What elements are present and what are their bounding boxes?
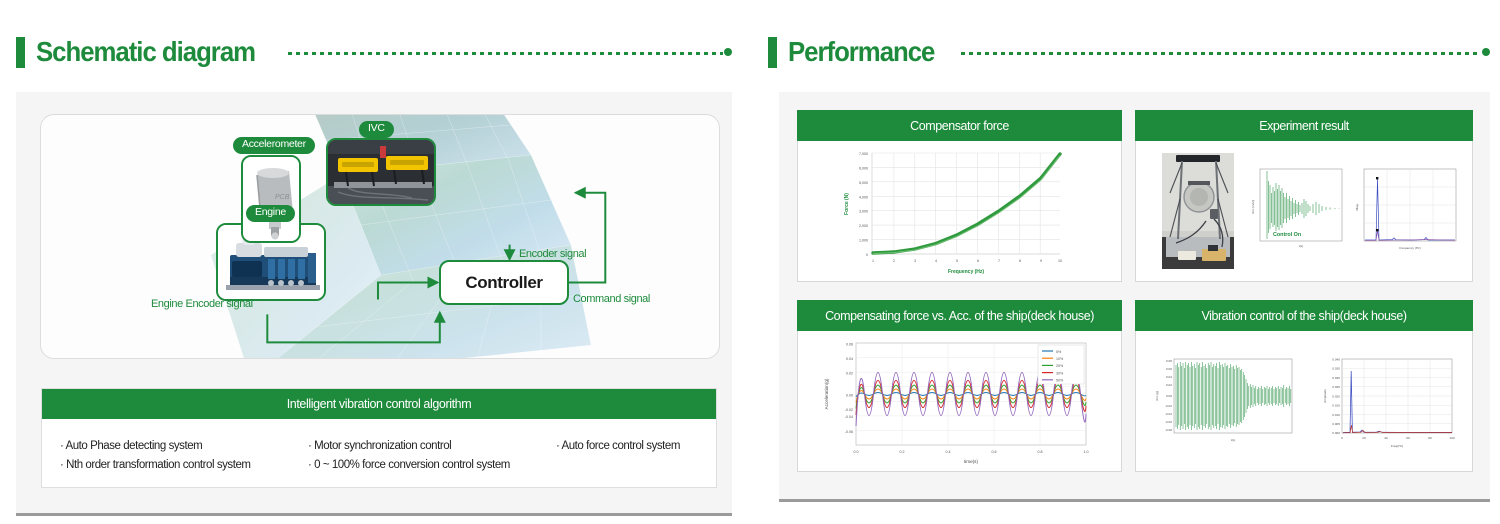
performance-panel: Compensator force [779,92,1490,502]
svg-text:0.4: 0.4 [946,450,951,454]
svg-text:0.02: 0.02 [846,372,853,376]
svg-text:3,000: 3,000 [859,210,868,214]
test-rig-photo [1162,153,1234,269]
card-chart-area: 7,000 6,000 5,000 4,000 3,000 2,000 1,00… [797,141,1122,282]
svg-text:0.06: 0.06 [846,342,853,346]
algorithm-column-3: · Auto force control system [556,437,726,475]
algorithm-items: · Auto Phase detecting system · Nth orde… [42,419,716,475]
svg-text:7,000: 7,000 [859,152,868,156]
svg-text:5,000: 5,000 [859,181,868,185]
svg-text:Freq(Hz): Freq(Hz) [1391,444,1403,448]
svg-text:Acc.(g): Acc.(g) [1155,391,1159,401]
svg-text:0.020: 0.020 [1332,395,1340,399]
svg-text:Control On: Control On [1273,232,1301,238]
header-dotted-rule [288,48,732,56]
svg-text:50%: 50% [1056,379,1064,383]
svg-text:0.0: 0.0 [854,450,859,454]
header-accent-bar [16,37,25,68]
svg-text:-0.02: -0.02 [845,408,853,412]
experiment-result-content: t(s) Acc.(m/s²) Control On [1136,141,1473,282]
svg-text:-0.02: -0.02 [1165,404,1172,408]
svg-text:0.00: 0.00 [1166,394,1172,398]
svg-text:2,000: 2,000 [859,224,868,228]
svg-text:Acceleration(g): Acceleration(g) [824,378,829,409]
algorithm-item: · Auto force control system [556,437,726,456]
experiment-fft-plot: Frequency (Hz) Mag. [1355,169,1456,250]
algorithm-column-2: · Motor synchronization control · 0 ~ 10… [308,437,556,475]
dotted-line [961,52,1481,55]
card-title: Experiment result [1135,110,1473,141]
svg-text:7: 7 [998,259,1000,263]
svg-text:1: 1 [872,259,874,263]
svg-text:Amplitude: Amplitude [1323,389,1327,403]
svg-text:0.030: 0.030 [1332,376,1340,380]
signal-label-engine-encoder: Engine Encoder signal [151,298,253,310]
svg-text:0.040: 0.040 [1332,358,1340,362]
svg-text:0: 0 [1341,436,1343,440]
svg-text:-0.06: -0.06 [1165,420,1172,424]
algorithm-box: Intelligent vibration control algorithm … [41,388,717,488]
svg-text:0.08: 0.08 [1166,359,1172,363]
node-label-engine: Engine [246,205,295,222]
page-title-schematic: Schematic diagram [36,36,255,68]
header-dotted-rule [961,48,1490,56]
svg-text:-0.04: -0.04 [845,415,853,419]
svg-text:5%: 5% [1056,350,1062,354]
card-title: Compensating force vs. Acc. of the ship(… [797,300,1122,331]
algorithm-title: Intelligent vibration control algorithm [42,389,716,419]
svg-text:0.6: 0.6 [992,450,997,454]
svg-text:6,000: 6,000 [859,166,868,170]
svg-text:0.000: 0.000 [1332,431,1340,435]
card-chart-area: 5% 10% 20% 30% 50% 0.06 0.04 0.02 0.00 -… [797,331,1122,472]
accelerometer-photo: PCB [241,155,301,243]
svg-text:0.04: 0.04 [1166,375,1172,379]
algorithm-item: · 0 ~ 100% force conversion control syst… [308,456,556,475]
svg-text:100: 100 [1449,436,1454,440]
svg-text:10%: 10% [1056,357,1064,361]
svg-text:0.035: 0.035 [1332,367,1340,371]
algorithm-column-1: · Auto Phase detecting system · Nth orde… [60,437,308,475]
chart-compensator-force: 7,000 6,000 5,000 4,000 3,000 2,000 1,00… [798,141,1122,282]
card-title: Vibration control of the ship(deck house… [1135,300,1473,331]
schematic-panel: Engine [16,92,732,516]
svg-text:0.06: 0.06 [1166,367,1172,371]
svg-text:60: 60 [1406,436,1410,440]
svg-text:PCB: PCB [275,194,290,201]
page-title-performance: Performance [788,36,934,68]
performance-card-experiment-result: Experiment result [1135,110,1473,282]
card-title: Compensator force [797,110,1122,141]
schematic-diagram-card: Engine [40,114,720,359]
svg-text:0.02: 0.02 [1166,383,1172,387]
svg-text:Acc.(m/s²): Acc.(m/s²) [1251,200,1255,214]
svg-text:20: 20 [1362,436,1366,440]
accelerometer-illustration: PCB [243,157,301,243]
svg-text:0.010: 0.010 [1332,413,1340,417]
svg-text:1,000: 1,000 [859,239,868,243]
algorithm-item: · Motor synchronization control [308,437,556,456]
svg-text:30%: 30% [1056,371,1064,375]
svg-text:80: 80 [1428,436,1432,440]
svg-text:8: 8 [1019,259,1021,263]
svg-text:0.015: 0.015 [1332,404,1340,408]
dotted-line [288,52,723,55]
svg-text:3: 3 [914,259,916,263]
svg-text:0.04: 0.04 [846,357,853,361]
performance-section-header: Performance [768,36,1490,68]
signal-label-command: Command signal [573,293,650,305]
svg-text:40: 40 [1384,436,1388,440]
node-label-ivc: IVC [359,121,394,138]
header-accent-bar [768,37,777,68]
svg-text:-0.08: -0.08 [1165,428,1172,432]
svg-text:-0.04: -0.04 [1165,412,1172,416]
node-label-accelerometer: Accelerometer [233,137,315,154]
svg-text:9: 9 [1040,259,1042,263]
svg-text:t(s): t(s) [1231,438,1235,442]
svg-text:0.2: 0.2 [900,450,905,454]
svg-text:1.0: 1.0 [1084,450,1089,454]
svg-text:-0.06: -0.06 [845,430,853,434]
algorithm-item: · Nth order transformation control syste… [60,456,308,475]
svg-text:0.8: 0.8 [1038,450,1043,454]
ivc-photo [326,138,436,206]
performance-card-compensator-force: Compensator force [797,110,1122,282]
chart-legend: 5% 10% 20% 30% 50% [1038,345,1084,384]
svg-text:Mag.: Mag. [1355,203,1359,210]
svg-text:Frequency (Hz): Frequency (Hz) [1399,246,1420,250]
schematic-section-header: Schematic diagram [16,36,732,68]
svg-text:2: 2 [893,259,895,263]
controller-box: Controller [439,260,569,305]
chart-compensating-force-vs-acc: 5% 10% 20% 30% 50% 0.06 0.04 0.02 0.00 -… [798,331,1122,472]
svg-text:Force (N): Force (N) [844,193,850,215]
card-chart-area: 0.080.06 0.040.02 0.00-0.02 -0.04-0.06 -… [1135,331,1473,472]
svg-text:20%: 20% [1056,364,1064,368]
dotted-line-end-dot [1482,48,1490,56]
ivc-actuator-illustration [328,140,436,206]
signal-label-encoder: Encoder signal [519,248,586,260]
vibration-time-plot: 0.080.06 0.040.02 0.00-0.02 -0.04-0.06 -… [1155,359,1292,442]
svg-text:t(s): t(s) [1299,244,1303,248]
performance-card-vibration-control: Vibration control of the ship(deck house… [1135,300,1473,472]
svg-text:5: 5 [956,259,958,263]
algorithm-item: · Auto Phase detecting system [60,437,308,456]
svg-text:0.00: 0.00 [846,393,853,397]
svg-text:Frequency (Hz): Frequency (Hz) [948,269,984,275]
experiment-time-plot: t(s) Acc.(m/s²) Control On [1251,169,1342,248]
svg-text:6: 6 [977,259,979,263]
svg-text:time(s): time(s) [964,459,979,464]
dotted-line-end-dot [724,48,732,56]
performance-card-compensating-force: Compensating force vs. Acc. of the ship(… [797,300,1122,472]
svg-text:4: 4 [935,259,937,263]
svg-text:0: 0 [866,253,868,257]
vibration-control-content: 0.080.06 0.040.02 0.00-0.02 -0.04-0.06 -… [1136,331,1473,472]
svg-text:0.025: 0.025 [1332,385,1340,389]
svg-text:10: 10 [1058,259,1062,263]
svg-text:0.005: 0.005 [1332,422,1340,426]
card-chart-area: t(s) Acc.(m/s²) Control On [1135,141,1473,282]
svg-text:4,000: 4,000 [859,195,868,199]
